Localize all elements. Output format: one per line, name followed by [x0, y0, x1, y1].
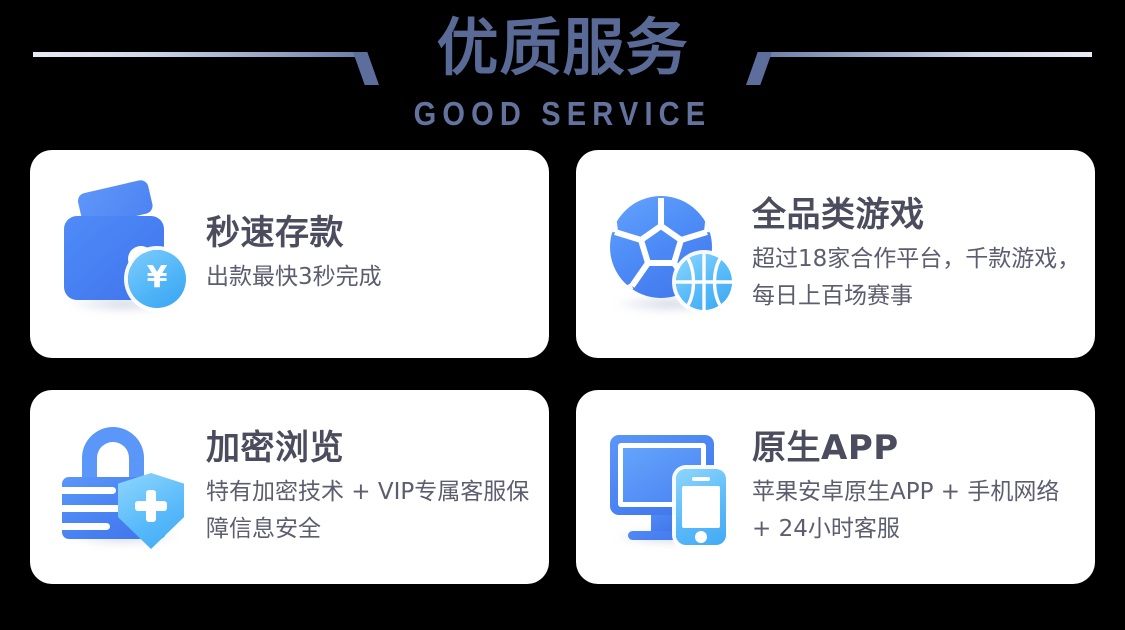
padlock-with-shield-icon [60, 421, 192, 553]
padlock-line [62, 487, 116, 494]
card-title: 加密浏览 [206, 427, 535, 469]
phone-screen [682, 486, 720, 528]
service-card-encrypted-browsing[interactable]: 加密浏览 特有加密技术 + VIP专属客服保障信息安全 [30, 390, 549, 584]
service-card-instant-deposit[interactable]: ¥ 秒速存款 出款最快3秒完成 [30, 150, 549, 358]
card-text-block: 原生APP 苹果安卓原生APP + 手机网络 + 24小时客服 [752, 427, 1081, 548]
soccer-ball-with-basketball-icon [606, 188, 738, 320]
card-title: 秒速存款 [206, 212, 535, 254]
service-card-native-app[interactable]: 原生APP 苹果安卓原生APP + 手机网络 + 24小时客服 [576, 390, 1095, 584]
card-description: 特有加密技术 + VIP专属客服保障信息安全 [206, 474, 535, 548]
card-title: 全品类游戏 [752, 194, 1081, 236]
card-title: 原生APP [752, 427, 1081, 469]
basketball-icon [676, 254, 732, 310]
service-card-all-games[interactable]: 全品类游戏 超过18家合作平台，千款游戏，每日上百场赛事 [576, 150, 1095, 358]
page-header: 优质服务 GOOD SERVICE [0, 0, 1125, 142]
card-description: 苹果安卓原生APP + 手机网络 + 24小时客服 [752, 474, 1081, 548]
phone-home-button [695, 531, 707, 543]
service-card-grid: ¥ 秒速存款 出款最快3秒完成 [30, 150, 1095, 588]
yen-coin-icon: ¥ [128, 250, 186, 308]
page-title: 优质服务 [0, 10, 1125, 86]
wallet-with-yen-coin-icon: ¥ [60, 188, 192, 320]
card-description: 出款最快3秒完成 [206, 259, 535, 296]
page-subtitle: GOOD SERVICE [68, 96, 1058, 132]
card-description: 超过18家合作平台，千款游戏，每日上百场赛事 [752, 241, 1081, 315]
monitor-with-phone-icon [606, 421, 738, 553]
card-text-block: 全品类游戏 超过18家合作平台，千款游戏，每日上百场赛事 [752, 194, 1081, 315]
phone-icon [676, 469, 726, 545]
padlock-line [62, 523, 110, 530]
phone-speaker [692, 477, 710, 481]
cross-icon [135, 490, 167, 522]
card-text-block: 秒速存款 出款最快3秒完成 [206, 212, 535, 296]
card-text-block: 加密浏览 特有加密技术 + VIP专属客服保障信息安全 [206, 427, 535, 548]
